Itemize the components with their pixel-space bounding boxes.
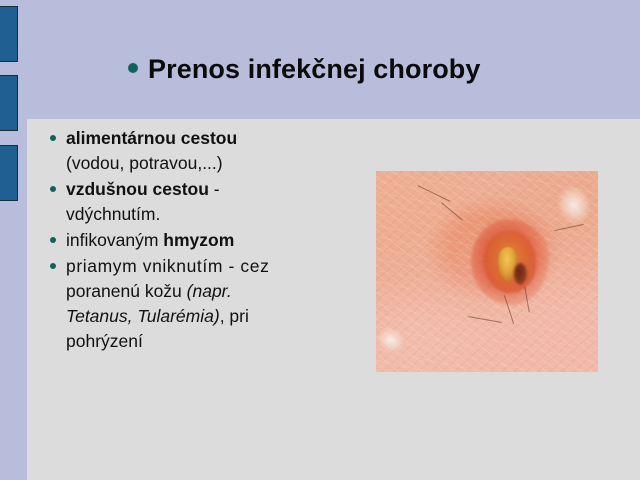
bullet-text-bold-2: vzdušnou cestou (66, 179, 209, 199)
bullet-text-normal-2: vdýchnutím. (66, 204, 160, 224)
bullet-text-italic-4b: Tetanus, Tularémia) (66, 306, 220, 326)
list-bullet-icon (50, 135, 56, 141)
slide: Prenos infekčnej choroby alimentárnou ce… (0, 0, 640, 480)
decor-blue-tab-2 (0, 75, 18, 131)
bullet-text-italic-4a: (napr. (187, 281, 232, 301)
list-item: alimentárnou cestou(vodou, potravou,...) (50, 126, 350, 176)
bullet-text-normal-3: infikovaným (66, 230, 163, 250)
slide-title: Prenos infekčnej choroby (128, 56, 481, 83)
list-item: infikovaným hmyzom (50, 228, 350, 253)
list-item: priamym vniknutím - cezporanenú kožu (na… (50, 254, 350, 354)
slide-title-text: Prenos infekčnej choroby (148, 56, 481, 83)
bullet-text-bold-3: hmyzom (163, 230, 234, 250)
bullet-text-normal-4b: , pri (220, 306, 249, 326)
list-item-text: alimentárnou cestou(vodou, potravou,...) (66, 126, 350, 176)
bullet-text-bold-1: alimentárnou cestou (66, 128, 237, 148)
decor-blue-tab-3 (0, 145, 18, 201)
list-bullet-icon (50, 237, 56, 243)
list-item-text: vzdušnou cestou -vdýchnutím. (66, 177, 350, 227)
list-bullet-icon (50, 186, 56, 192)
photo-vignette (376, 171, 598, 372)
skin-lesion-photo (376, 171, 598, 372)
bullet-text-dash-2: - (209, 179, 220, 199)
list-item: vzdušnou cestou -vdýchnutím. (50, 177, 350, 227)
list-bullet-icon (50, 263, 56, 269)
title-bullet-icon (128, 63, 138, 73)
bullet-text-normal-4a: poranenú kožu (66, 281, 187, 301)
bullet-text-spaced-4: priamym vniknutím - cez (66, 256, 269, 276)
bullet-text-normal-1: (vodou, potravou,...) (66, 153, 223, 173)
bullet-text-normal-4c: pohrýzení (66, 331, 143, 351)
decor-blue-tab-1 (0, 6, 18, 62)
bullet-list: alimentárnou cestou(vodou, potravou,...)… (50, 126, 350, 355)
list-item-text: infikovaným hmyzom (66, 228, 350, 253)
list-item-text: priamym vniknutím - cezporanenú kožu (na… (66, 254, 350, 354)
